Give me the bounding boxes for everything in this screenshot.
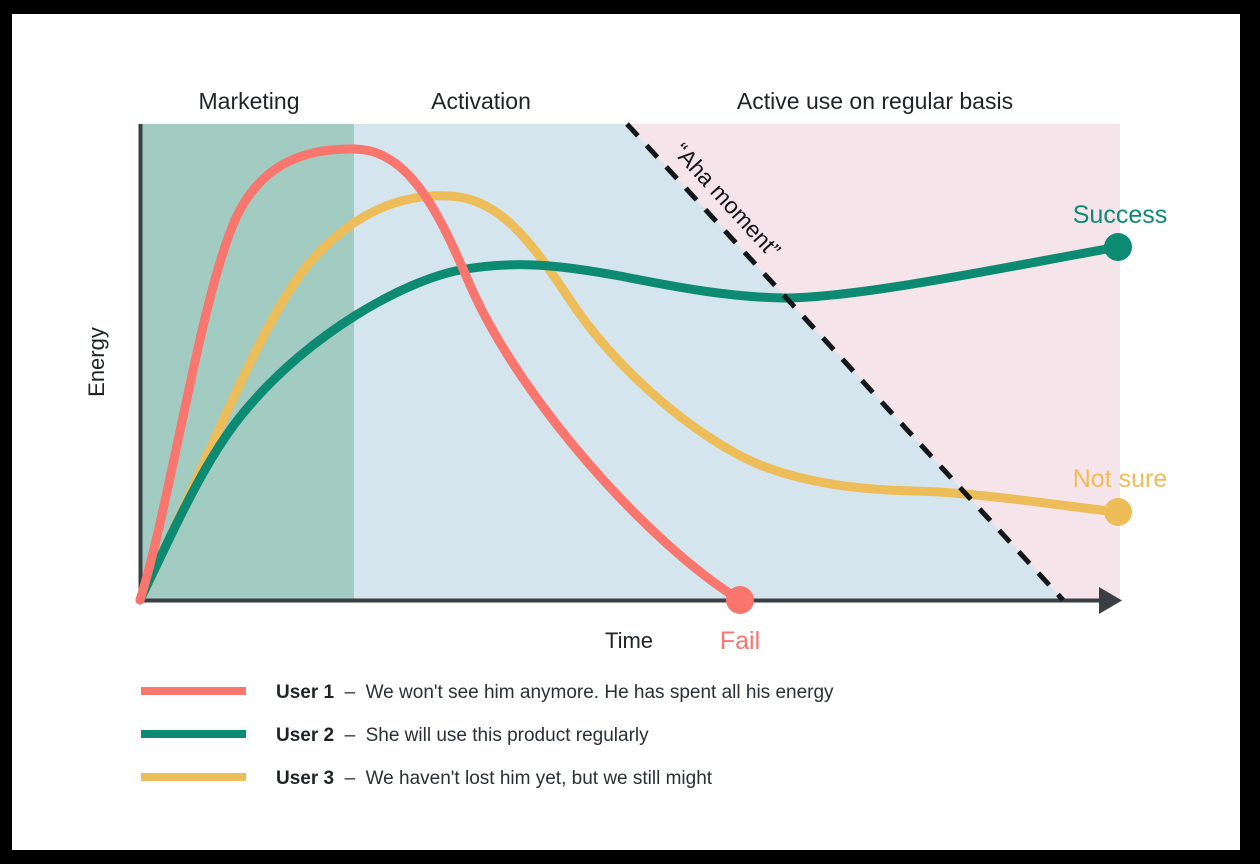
phase-label-marketing: Marketing xyxy=(199,88,300,114)
legend-item-user-3: User 3 – We haven't lost him yet, but we… xyxy=(141,768,713,789)
x-axis-title: Time xyxy=(605,628,653,653)
legend-name-user-1: User 1 xyxy=(276,682,335,703)
phase-label-active-use: Active use on regular basis xyxy=(737,88,1013,114)
legend-item-user-2: User 2 – She will use this product regul… xyxy=(141,725,649,746)
legend-separator-user-1: – xyxy=(345,682,356,703)
legend-separator-user-2: – xyxy=(345,725,356,746)
endpoint-label-not-sure: Not sure xyxy=(1073,465,1167,493)
legend-desc-user-1: We won't see him anymore. He has spent a… xyxy=(366,682,834,703)
legend-name-user-2: User 2 xyxy=(276,725,334,746)
legend-separator-user-3: – xyxy=(345,768,356,789)
phase-label-activation: Activation xyxy=(431,88,531,114)
phase-labels: Marketing Activation Active use on regul… xyxy=(199,88,1014,114)
endpoint-label-fail: Fail xyxy=(720,627,760,655)
legend-text-user-1: User 1 – We won't see him anymore. He ha… xyxy=(276,682,834,703)
endpoint-dot-not-sure xyxy=(1104,498,1132,526)
legend-desc-user-3: We haven't lost him yet, but we still mi… xyxy=(366,768,713,789)
y-axis-title: Energy xyxy=(84,327,109,397)
legend-text-user-3: User 3 – We haven't lost him yet, but we… xyxy=(276,768,713,789)
endpoint-label-success: Success xyxy=(1073,201,1167,229)
legend: User 1 – We won't see him anymore. He ha… xyxy=(141,682,834,789)
legend-item-user-1: User 1 – We won't see him anymore. He ha… xyxy=(141,682,834,703)
endpoint-dot-success xyxy=(1104,233,1132,261)
figure-frame: Marketing Activation Active use on regul… xyxy=(12,14,1240,850)
legend-text-user-2: User 2 – She will use this product regul… xyxy=(276,725,649,746)
legend-name-user-3: User 3 xyxy=(276,768,334,789)
legend-desc-user-2: She will use this product regularly xyxy=(366,725,650,746)
chart-stage: Marketing Activation Active use on regul… xyxy=(0,0,1260,864)
endpoint-dot-fail xyxy=(726,586,754,614)
energy-curve-chart: Marketing Activation Active use on regul… xyxy=(0,0,1260,864)
